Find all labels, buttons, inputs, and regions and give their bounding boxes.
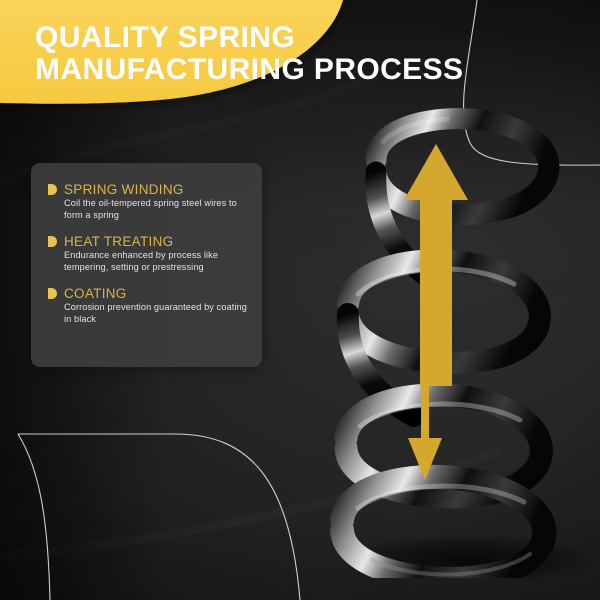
list-item: SPRING WINDING Coil the oil-tempered spr… (48, 182, 248, 221)
d-bullet-icon (48, 236, 57, 247)
step-description: Endurance enhanced by process like tempe… (48, 250, 248, 273)
step-title: COATING (64, 286, 127, 301)
process-steps-card: SPRING WINDING Coil the oil-tempered spr… (31, 163, 262, 367)
d-bullet-icon (48, 288, 57, 299)
title-line-2: MANUFACTURING PROCESS (35, 54, 575, 86)
step-description: Corrosion prevention guaranteed by coati… (48, 302, 248, 325)
title-line-1: QUALITY SPRING (35, 22, 575, 54)
force-arrows (318, 108, 600, 578)
d-bullet-icon (48, 184, 57, 195)
poster-canvas: QUALITY SPRING MANUFACTURING PROCESS (0, 0, 600, 600)
page-title: QUALITY SPRING MANUFACTURING PROCESS (35, 22, 575, 86)
step-description: Coil the oil-tempered spring steel wires… (48, 198, 248, 221)
step-title: SPRING WINDING (64, 182, 184, 197)
arrow-down-icon (408, 370, 442, 480)
list-item: COATING Corrosion prevention guaranteed … (48, 286, 248, 325)
arrow-up-icon (404, 144, 468, 386)
step-title: HEAT TREATING (64, 234, 173, 249)
list-item: HEAT TREATING Endurance enhanced by proc… (48, 234, 248, 273)
